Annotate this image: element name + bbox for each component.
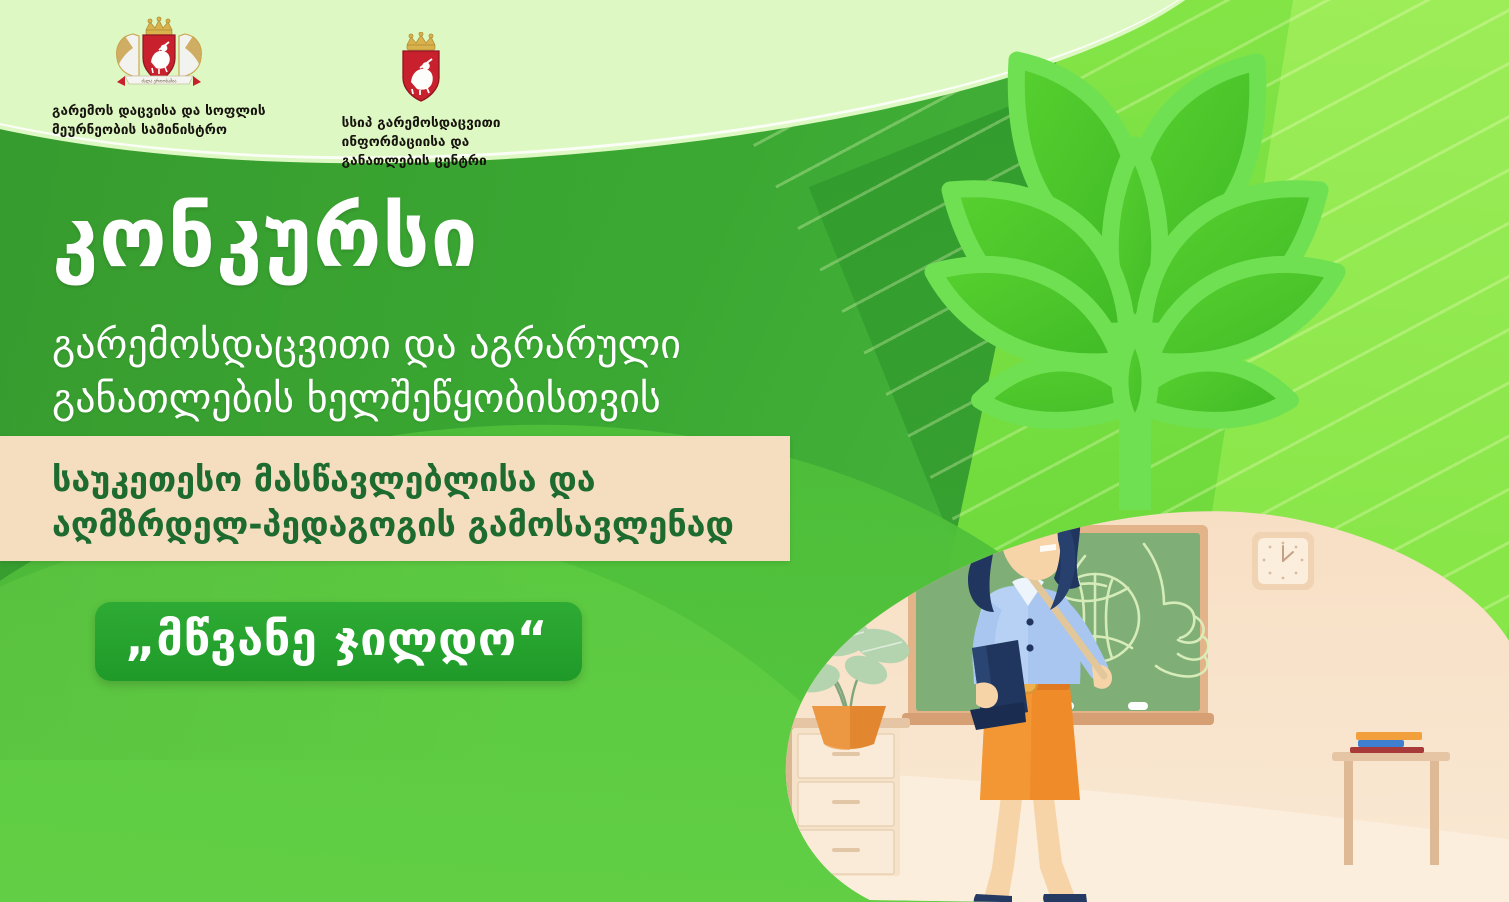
svg-text:ძალა ერთობაშია: ძალა ერთობაშია: [141, 79, 176, 84]
classroom-illustration: [740, 470, 1509, 902]
poster-root: ძალა ერთობაშია გარემოს დაცვისა და სოფლის…: [0, 0, 1509, 902]
logo-center-label: სსიპ გარემოსდაცვითი ინფორმაციისა და განა…: [342, 114, 501, 171]
shoe: [1043, 894, 1088, 902]
georgia-coat-of-arms-icon: ძალა ერთობაშია: [103, 14, 215, 94]
page-subtitle: გარემოსდაცვითი და აგრარული განათლების ხე…: [52, 318, 681, 427]
beige-banner-text: საუკეთესო მასწავლებლისა და აღმზრდელ-პედა…: [52, 458, 812, 548]
stacked-books: [1350, 732, 1424, 753]
logo-ministry: ძალა ერთობაშია გარემოს დაცვისა და სოფლის…: [52, 14, 266, 140]
award-name-badge: „მწვანე ჯილდო“: [95, 602, 582, 681]
eraser: [1128, 702, 1148, 710]
environmental-center-emblem-icon: [385, 32, 457, 106]
page-title: კონკურსი: [52, 196, 478, 279]
logo-group: ძალა ერთობაშია გარემოს დაცვისა და სოფლის…: [52, 14, 501, 171]
award-name-label: „მწვანე ჯილდო“: [125, 616, 548, 663]
logo-ministry-label: გარემოს დაცვისა და სოფლის მეურნეობის სამ…: [52, 102, 266, 140]
logo-center: სსიპ გარემოსდაცვითი ინფორმაციისა და განა…: [342, 32, 501, 171]
stylized-leaf-tree-icon: [905, 10, 1365, 520]
wall-clock: [1252, 532, 1314, 590]
